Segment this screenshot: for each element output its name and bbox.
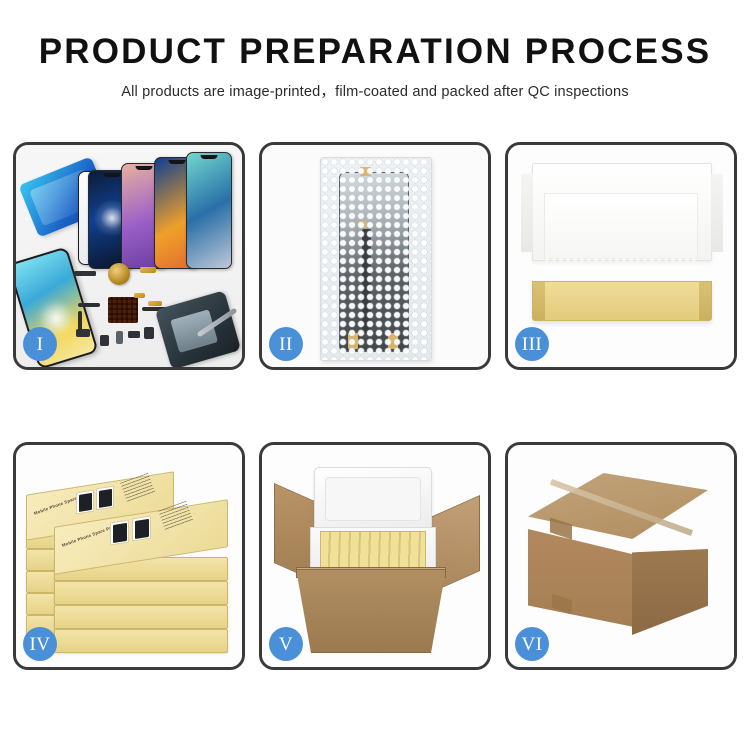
page-title: PRODUCT PREPARATION PROCESS xyxy=(0,34,750,71)
yellow-boxes-inside-icon xyxy=(320,531,426,569)
step-badge-5: V xyxy=(269,627,303,661)
box-stack: Mobile Phone Spare Parts Mobile Phone Sp… xyxy=(24,465,236,655)
step-badge-6: VI xyxy=(515,627,549,661)
step-panel-4: Mobile Phone Spare Parts Mobile Phone Sp… xyxy=(13,442,245,670)
step-panel-2: II xyxy=(259,142,491,370)
speaker-coil-icon xyxy=(108,263,130,285)
step-panel-6: VI xyxy=(505,442,737,670)
connector-grid-icon xyxy=(108,297,138,323)
step-panel-1: I xyxy=(13,142,245,370)
styrofoam-lid-icon xyxy=(314,467,432,531)
page-subtitle: All products are image-printed，film-coat… xyxy=(0,80,750,101)
step-badge-2: II xyxy=(269,327,303,361)
kraft-box-base-icon xyxy=(532,281,712,321)
header: PRODUCT PREPARATION PROCESS All products… xyxy=(0,0,750,101)
shipping-carton-icon xyxy=(296,569,446,653)
step-badge-3: III xyxy=(515,327,549,361)
process-steps-grid: I II xyxy=(13,142,737,670)
white-foam-sheet-icon xyxy=(544,193,698,259)
step-panel-5: V xyxy=(259,442,491,670)
step-badge-4: IV xyxy=(23,627,57,661)
product-preparation-infographic: PRODUCT PREPARATION PROCESS All products… xyxy=(0,0,750,750)
step-badge-1: I xyxy=(23,327,57,361)
step-panel-3: III xyxy=(505,142,737,370)
bubble-wrap-pouch-icon xyxy=(320,157,432,361)
phone-screen-fan xyxy=(88,151,238,269)
